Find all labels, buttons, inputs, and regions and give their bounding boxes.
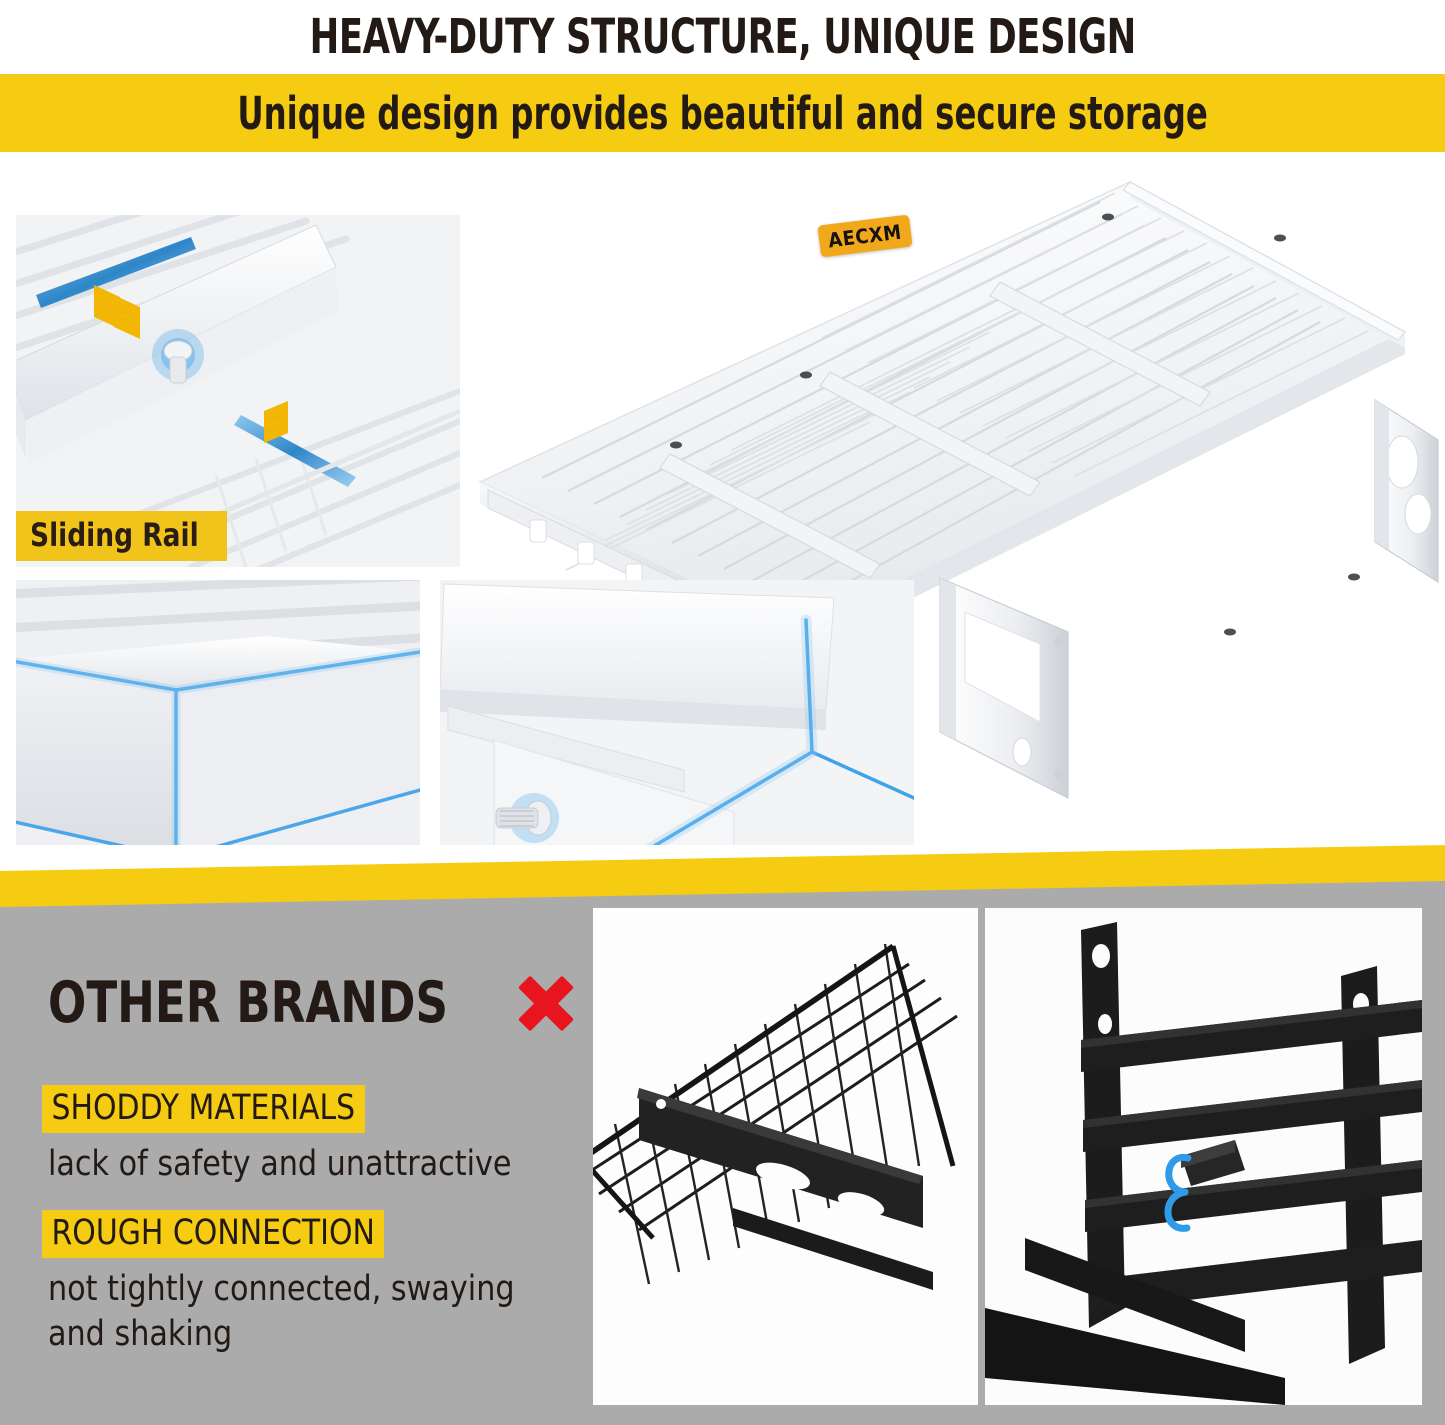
red-x-icon [517, 974, 575, 1032]
drawback-desc-1: lack of safety and unattractive [48, 1142, 512, 1187]
other-brands-heading: OTHER BRANDS [48, 970, 575, 1036]
competitor-frame-illustration [985, 908, 1422, 1405]
competitor-frame-photo [985, 908, 1422, 1405]
drawback-item-2: ROUGH CONNECTION not tightly connected, … [42, 1210, 588, 1357]
competitor-mesh-illustration [593, 908, 978, 1405]
drawback-desc-2: not tightly connected, swaying and shaki… [48, 1267, 566, 1357]
corner-glow-illustration [16, 580, 420, 858]
bolt-joint-panel [434, 580, 914, 858]
drawback-item-1: SHODDY MATERIALS lack of safety and unat… [42, 1085, 531, 1187]
corner-glow-panel [16, 580, 420, 858]
header-banner: Unique design provides beautiful and sec… [0, 74, 1445, 152]
bolt-joint-illustration [434, 580, 914, 858]
sliding-rail-label: Sliding Rail [16, 511, 227, 561]
competitor-mesh-photo [593, 908, 978, 1405]
brand-logo-text: AECXM [827, 220, 903, 253]
sliding-rail-panel: Sliding Rail [16, 215, 460, 567]
drawback-tag-1: SHODDY MATERIALS [42, 1085, 365, 1133]
drawback-tag-2: ROUGH CONNECTION [42, 1210, 384, 1258]
page-title: HEAVY-DUTY STRUCTURE, UNIQUE DESIGN [0, 0, 1445, 74]
page-title-text: HEAVY-DUTY STRUCTURE, UNIQUE DESIGN [309, 9, 1135, 65]
sliding-rail-label-text: Sliding Rail [30, 516, 199, 554]
other-brands-heading-text: OTHER BRANDS [48, 970, 448, 1036]
other-brands-section: OTHER BRANDS SHODDY MATERIALS lack of sa… [0, 880, 1445, 1425]
top-feature-section: AECXM [0, 152, 1445, 882]
header-subtitle-text: Unique design provides beautiful and sec… [237, 87, 1208, 140]
